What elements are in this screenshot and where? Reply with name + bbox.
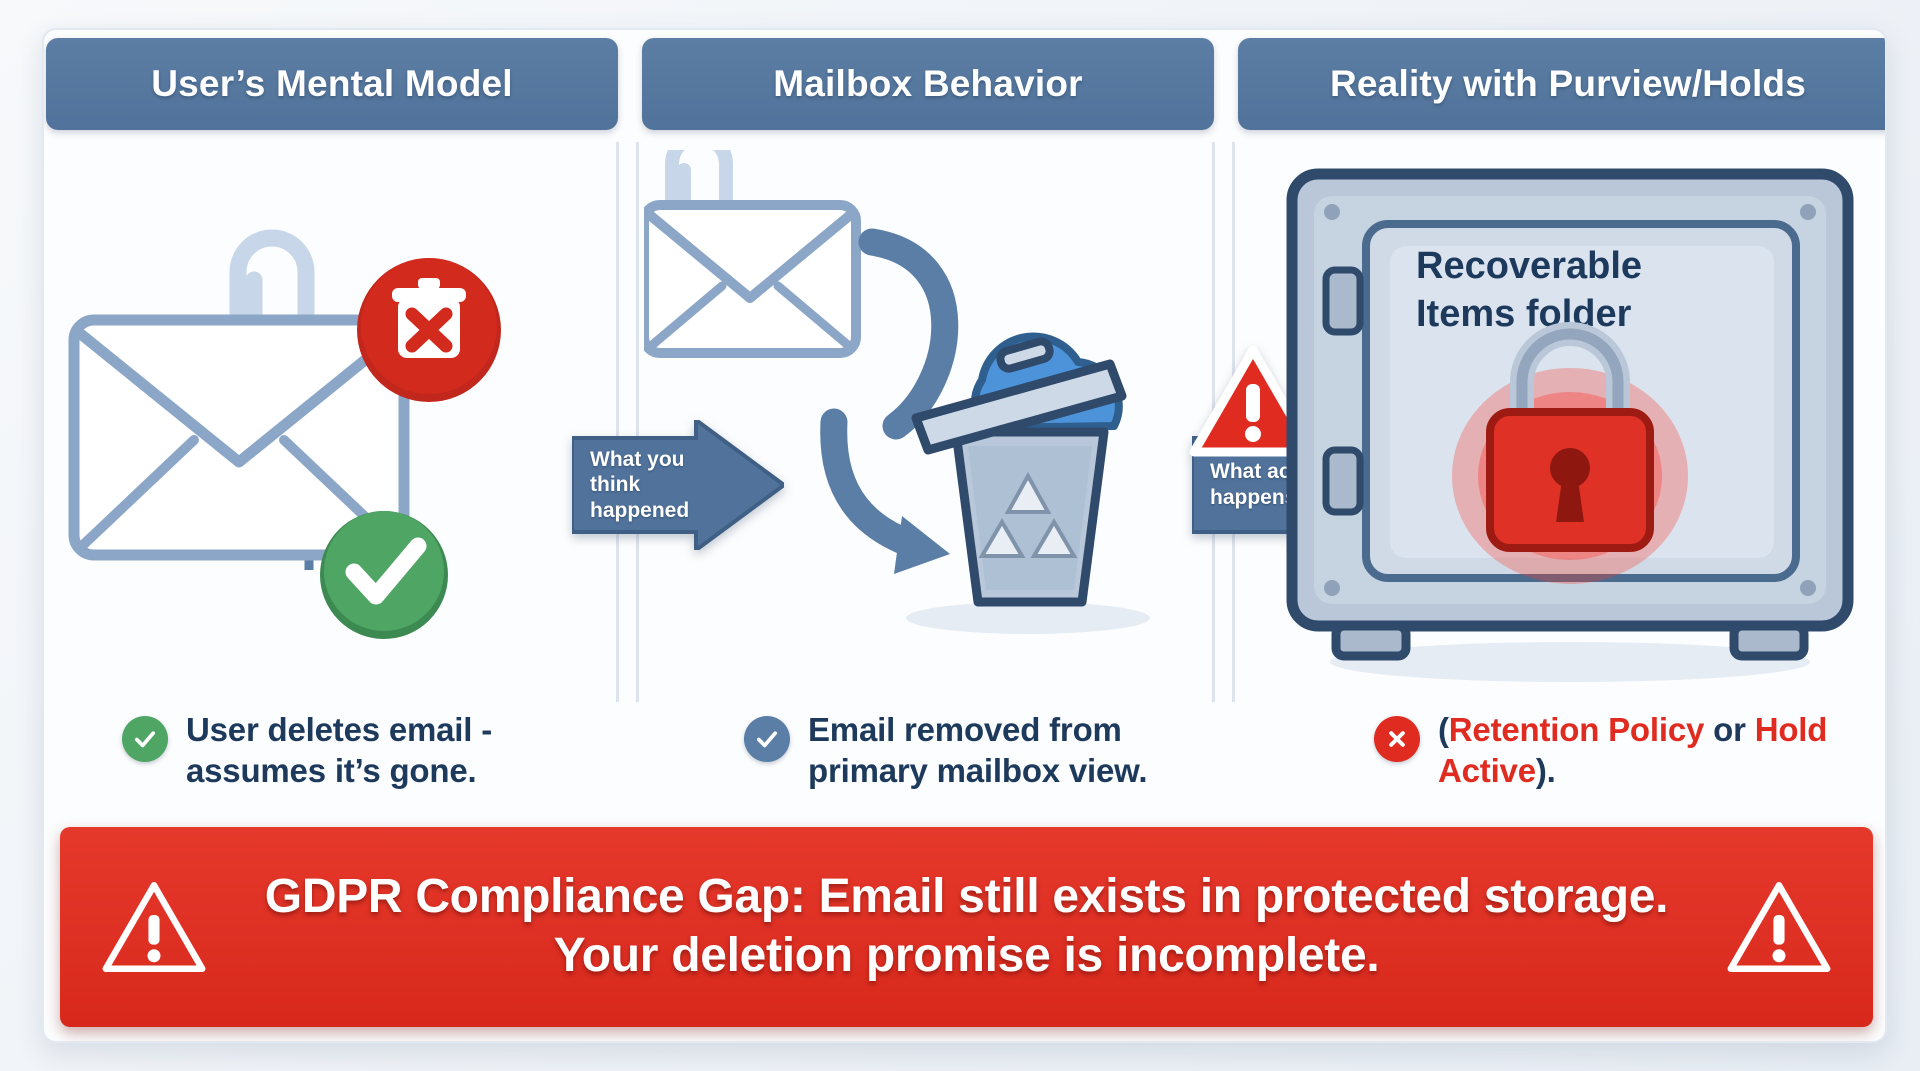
caption-middle: or	[1704, 711, 1755, 748]
caption-emphasis-retention-policy: Retention Policy	[1449, 711, 1704, 748]
caption-reality-purview-holds: (Retention Policy or Hold Active).	[1374, 710, 1874, 792]
column-header-label: User’s Mental Model	[151, 63, 513, 105]
caption-mailbox-behavior: Email removed from primary mailbox view.	[744, 710, 1214, 792]
infographic-canvas: User’s Mental Model Mailbox Behavior Rea…	[0, 0, 1920, 1071]
check-circle-green-icon	[122, 716, 168, 762]
gdpr-compliance-alert-banner: GDPR Compliance Gap: Email still exists …	[60, 827, 1873, 1027]
warning-triangle-icon	[98, 876, 210, 978]
safe-label-line2: Items folder	[1416, 293, 1632, 335]
delete-badge-icon	[357, 258, 501, 402]
illustration-user-mental-model	[54, 150, 614, 690]
column-header-mailbox-behavior: Mailbox Behavior	[642, 38, 1214, 130]
infographic-card: User’s Mental Model Mailbox Behavior Rea…	[42, 28, 1887, 1043]
caption-text: User deletes email - assumes it’s gone.	[186, 710, 592, 792]
caption-prefix: (	[1438, 711, 1449, 748]
x-circle-red-icon	[1374, 716, 1420, 762]
envelope-icon	[644, 205, 856, 353]
approved-badge-icon	[320, 511, 448, 639]
banner-text: GDPR Compliance Gap: Email still exists …	[210, 868, 1723, 985]
warning-triangle-icon	[1723, 876, 1835, 978]
safe-label-line1: Recoverable	[1416, 245, 1642, 287]
caption-text: Email removed from primary mailbox view.	[808, 710, 1214, 792]
check-circle-blue-icon	[744, 716, 790, 762]
column-header-mental-model: User’s Mental Model	[46, 38, 618, 130]
column-header-label: Mailbox Behavior	[773, 63, 1083, 105]
illustration-mailbox-behavior	[644, 150, 1204, 690]
caption-text: (Retention Policy or Hold Active).	[1438, 710, 1874, 792]
column-header-reality-purview: Reality with Purview/Holds	[1238, 38, 1887, 130]
column-header-label: Reality with Purview/Holds	[1330, 63, 1806, 105]
illustration-reality-purview-holds: Recoverable Items folder	[1240, 150, 1887, 690]
caption-suffix: ).	[1536, 752, 1556, 789]
caption-user-mental-model: User deletes email - assumes it’s gone.	[122, 710, 592, 792]
